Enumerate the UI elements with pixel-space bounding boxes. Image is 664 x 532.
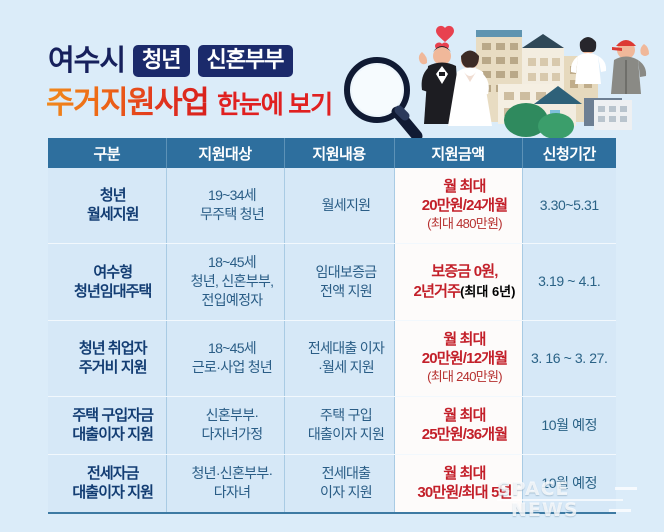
- column-header-target: 지원대상: [166, 138, 284, 168]
- watermark-rule: [497, 499, 623, 501]
- cell-content-4: 전세대출이자 지원: [284, 455, 394, 513]
- page-subtitle: 한눈에 보기: [217, 88, 332, 122]
- cell-content-3: 주택 구입대출이자 지원: [284, 397, 394, 455]
- column-header-category: 구분: [48, 138, 166, 168]
- poster-header: 여수시 청년 신혼부부 주거지원사업 한눈에 보기: [0, 0, 664, 136]
- table-row: 청년월세지원19~34세무주택 청년월세지원월 최대20만원/24개월(최대 4…: [48, 168, 616, 244]
- cell-target-3: 신혼부부·다자녀가정: [166, 397, 284, 455]
- cell-program-name-2: 청년 취업자주거비 지원: [48, 321, 166, 397]
- cell-period-2: 3. 16 ~ 3. 27.: [522, 321, 616, 397]
- column-header-content: 지원내용: [284, 138, 394, 168]
- cell-period-1: 3.19 ~ 4.1.: [522, 244, 616, 321]
- table-row: 주택 구입자금대출이자 지원신혼부부·다자녀가정주택 구입대출이자 지원월 최대…: [48, 397, 616, 455]
- cell-amount-2: 월 최대20만원/12개월(최대 240만원): [394, 321, 522, 397]
- poster-canvas: 여수시 청년 신혼부부 주거지원사업 한눈에 보기: [0, 0, 664, 532]
- table-body: 청년월세지원19~34세무주택 청년월세지원월 최대20만원/24개월(최대 4…: [48, 168, 616, 512]
- cell-target-4: 청년·신혼부부·다자녀: [166, 455, 284, 513]
- cell-program-name-1: 여수형청년임대주택: [48, 244, 166, 321]
- support-programs-table: 구분 지원대상 지원내용 지원금액 신청기간 청년월세지원19~34세무주택 청…: [48, 138, 616, 512]
- cell-program-name-0: 청년월세지원: [48, 168, 166, 244]
- table-row: 여수형청년임대주택18~45세청년, 신혼부부,전입예정자임대보증금전액 지원보…: [48, 244, 616, 321]
- header-title-line-1: 여수시 청년 신혼부부: [48, 44, 293, 78]
- column-header-period: 신청기간: [522, 138, 616, 168]
- watermark-dash-1: [615, 487, 637, 490]
- page-title: 주거지원사업: [46, 84, 208, 122]
- cell-amount-3: 월 최대25만원/36개월: [394, 397, 522, 455]
- column-header-amount: 지원금액: [394, 138, 522, 168]
- cell-target-2: 18~45세근로·사업 청년: [166, 321, 284, 397]
- cell-program-name-3: 주택 구입자금대출이자 지원: [48, 397, 166, 455]
- watermark-line-2: NEWS: [511, 500, 657, 521]
- table-header-row: 구분 지원대상 지원내용 지원금액 신청기간: [48, 138, 616, 168]
- watermark: SPACE NEWS: [497, 479, 657, 527]
- city-and-people-illustration: [398, 16, 664, 138]
- table-row: 청년 취업자주거비 지원18~45세근로·사업 청년전세대출 이자·월세 지원월…: [48, 321, 616, 397]
- cell-period-0: 3.30~5.31: [522, 168, 616, 244]
- cell-target-0: 19~34세무주택 청년: [166, 168, 284, 244]
- cell-content-0: 월세지원: [284, 168, 394, 244]
- header-title-line-2: 주거지원사업 한눈에 보기: [46, 84, 332, 122]
- badge-newlywed: 신혼부부: [198, 45, 293, 77]
- cell-content-2: 전세대출 이자·월세 지원: [284, 321, 394, 397]
- city-name: 여수시: [48, 44, 125, 78]
- cell-program-name-4: 전세자금대출이자 지원: [48, 455, 166, 513]
- badge-youth: 청년: [133, 45, 189, 77]
- cell-period-3: 10월 예정: [522, 397, 616, 455]
- cell-amount-1: 보증금 0원,2년거주(최대 6년): [394, 244, 522, 321]
- cell-target-1: 18~45세청년, 신혼부부,전입예정자: [166, 244, 284, 321]
- cell-content-1: 임대보증금전액 지원: [284, 244, 394, 321]
- watermark-dash-2: [609, 509, 631, 512]
- cell-amount-0: 월 최대20만원/24개월(최대 480만원): [394, 168, 522, 244]
